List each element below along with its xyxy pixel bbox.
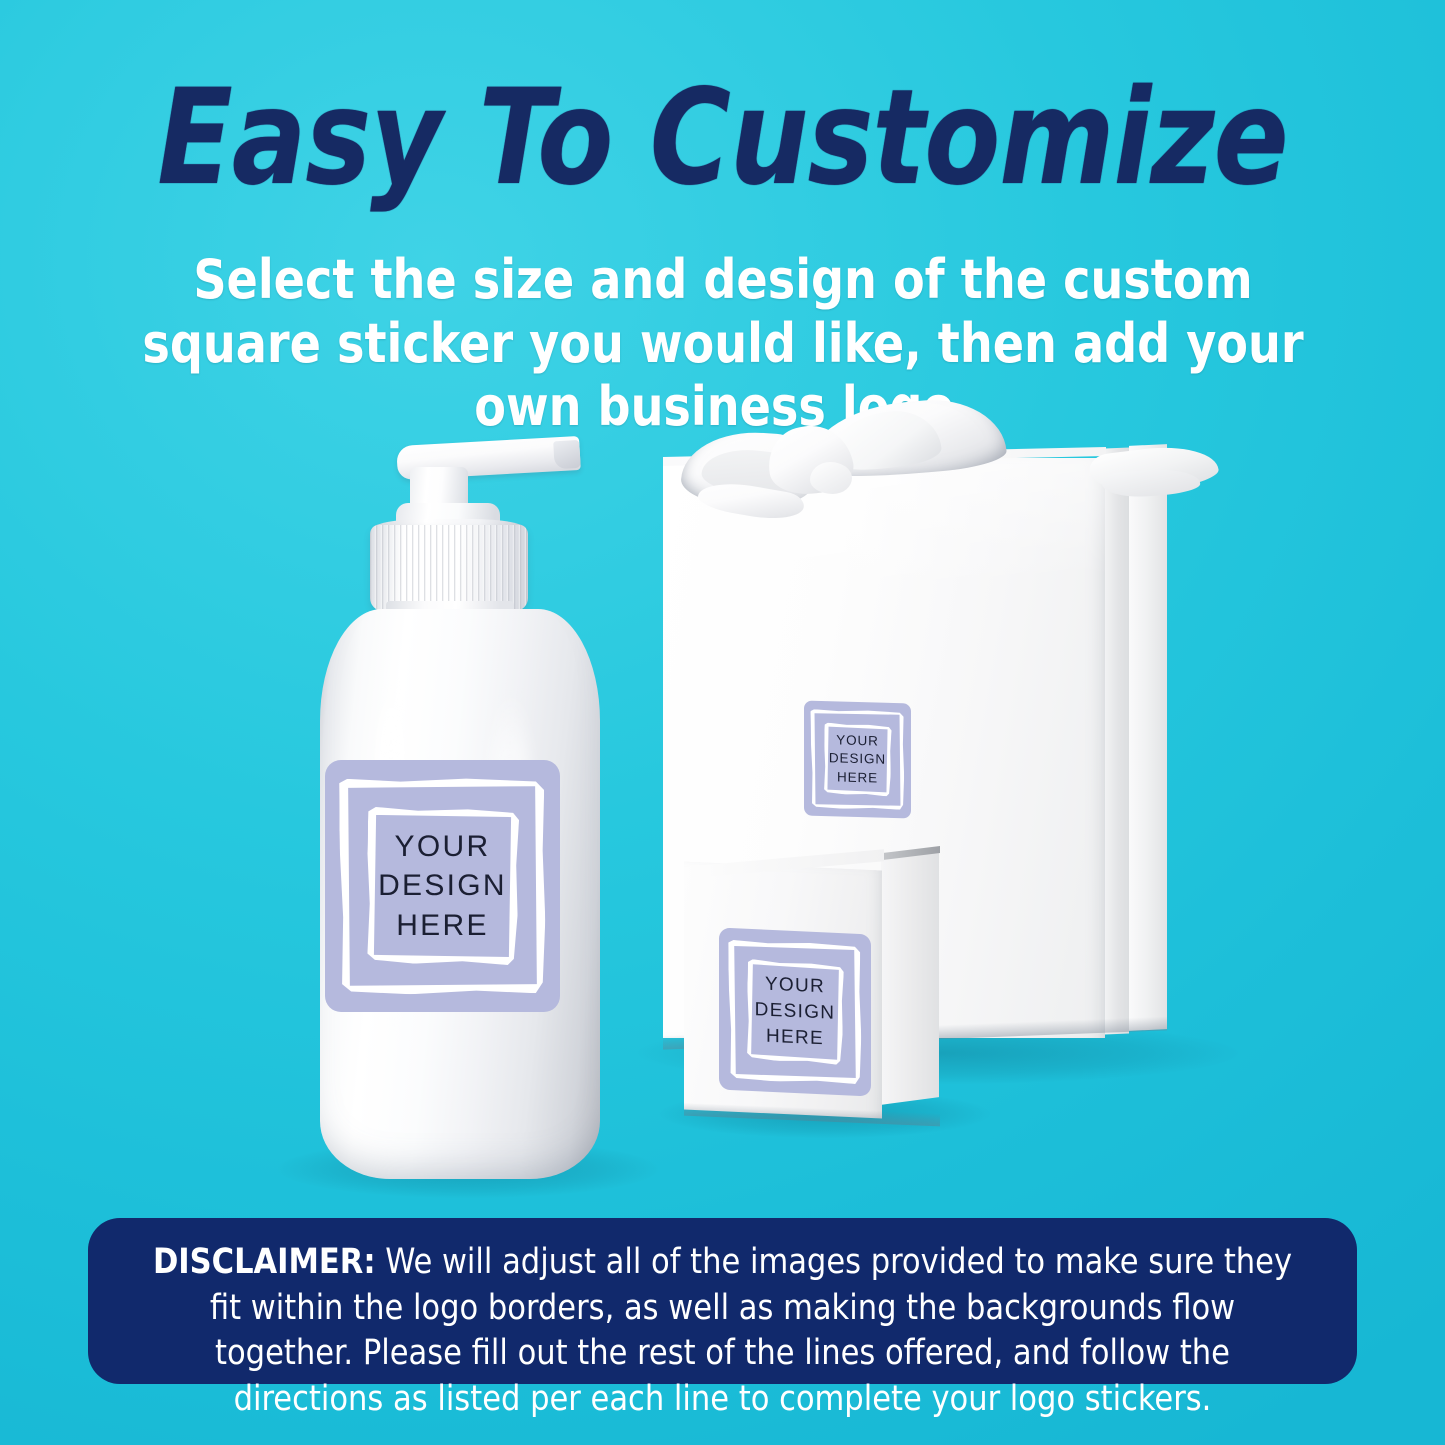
pump-lotion-bottle: YOUR DESIGN HERE	[300, 425, 620, 1185]
sticker-label-text: YOUR DESIGN HERE	[378, 827, 507, 946]
disclaimer-text: DISCLAIMER: We will adjust all of the im…	[140, 1240, 1305, 1422]
disclaimer-panel: DISCLAIMER: We will adjust all of the im…	[88, 1218, 1357, 1384]
sticker-label-text: YOUR DESIGN HERE	[829, 731, 886, 787]
pump-ribbed-collar	[370, 525, 528, 611]
promo-graphic: Easy To Customize Select the size and de…	[0, 0, 1445, 1445]
ribbon-knot-core-icon	[810, 462, 852, 494]
disclaimer-label: DISCLAIMER:	[153, 1242, 376, 1282]
sticker-preview-bottle[interactable]: YOUR DESIGN HERE	[325, 760, 560, 1012]
sticker-preview-smallbox[interactable]: YOUR DESIGN HERE	[719, 928, 871, 1097]
page-title: Easy To Customize	[51, 72, 1395, 204]
smallbox-side-panel	[881, 849, 939, 1105]
giftbox-side-panel-b	[1129, 444, 1167, 1031]
giftbox-side-panel-a	[1105, 447, 1129, 1034]
sticker-preview-giftbox[interactable]: YOUR DESIGN HERE	[804, 701, 911, 819]
sticker-label-text: YOUR DESIGN HERE	[755, 971, 836, 1052]
